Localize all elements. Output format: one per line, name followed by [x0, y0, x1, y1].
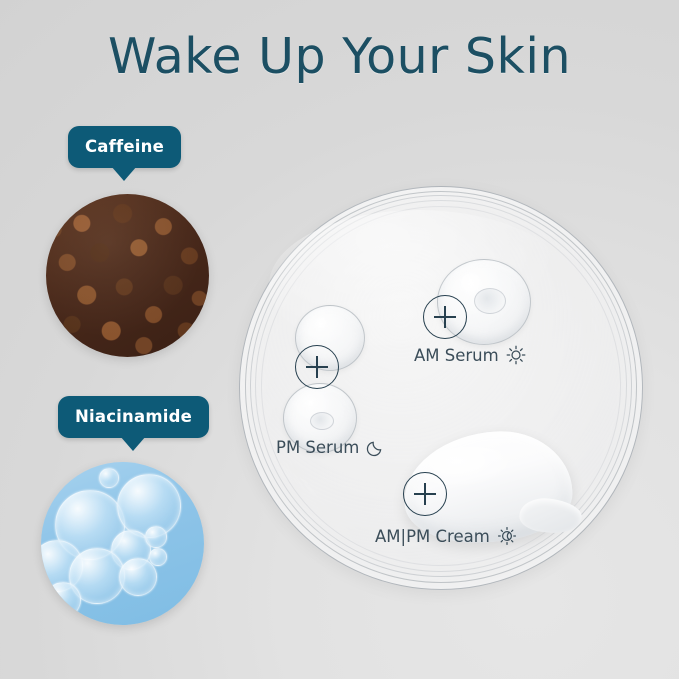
blue-bubbles-image — [41, 462, 204, 625]
product-label-text: PM Serum — [276, 438, 359, 457]
plus-circle-marker-ampm-cream[interactable] — [403, 472, 447, 516]
page-title: Wake Up Your Skin — [0, 28, 679, 85]
droplet-core — [310, 412, 334, 430]
ingredient-tag-label: Niacinamide — [75, 407, 192, 426]
ingredient-tag-caffeine: Caffeine — [68, 126, 181, 168]
product-label-text: AM Serum — [414, 346, 499, 365]
plus-circle-marker-am-serum[interactable] — [423, 295, 467, 339]
product-label-am-serum: AM Serum — [414, 345, 526, 365]
moon-icon — [366, 437, 386, 457]
blue-bubbles-texture — [41, 462, 204, 625]
ingredient-tag-label: Caffeine — [85, 137, 164, 156]
sun-icon — [506, 345, 526, 365]
sun-moon-icon — [497, 526, 517, 546]
tag-pointer-icon — [111, 166, 137, 181]
coffee-beans-image — [46, 194, 209, 357]
product-label-pm-serum: PM Serum — [276, 437, 386, 457]
coffee-beans-texture — [46, 194, 209, 357]
product-label-text: AM|PM Cream — [375, 527, 490, 546]
ingredient-tag-niacinamide: Niacinamide — [58, 396, 209, 438]
droplet-core — [474, 288, 506, 314]
tag-pointer-icon — [120, 436, 146, 451]
product-infographic: Wake Up Your Skin Caffeine Niacinamide — [0, 0, 679, 679]
product-label-ampm-cream: AM|PM Cream — [375, 526, 517, 546]
plus-circle-marker-pm-serum[interactable] — [295, 345, 339, 389]
